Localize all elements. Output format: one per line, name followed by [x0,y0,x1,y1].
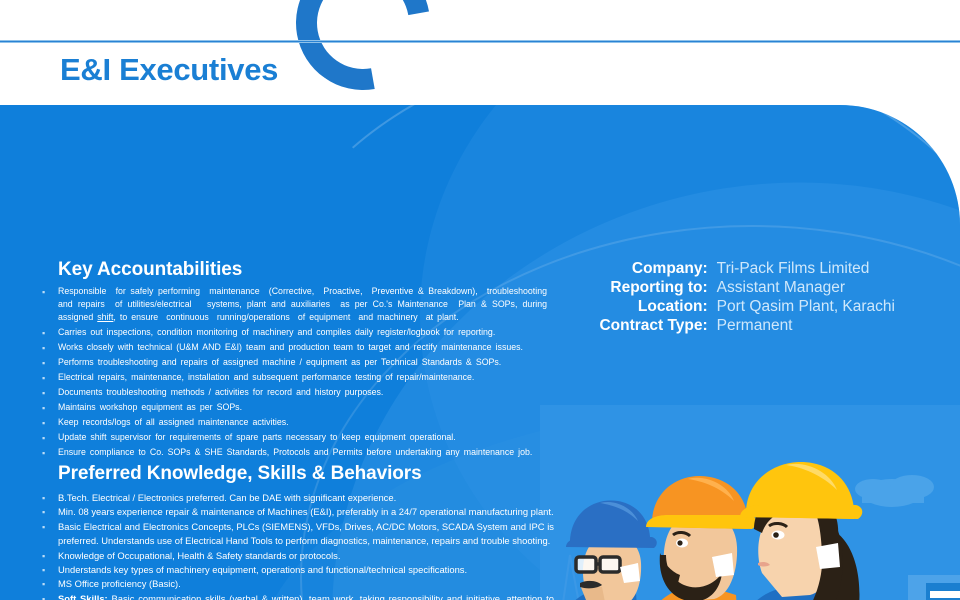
list-item: ▪ Electrical repairs, maintenance, insta… [42,371,547,385]
reporting-to-value: Assistant Manager [717,279,895,297]
list-item-text: Update shift supervisor for requirements… [58,431,547,444]
bullet-icon: ▪ [42,431,58,445]
circular-swirl-logo-icon [270,0,457,105]
list-item: ▪ MS Office proficiency (Basic). [42,577,554,591]
list-item: ▪ Min. 08 years experience repair & main… [42,505,554,519]
company-info-table: Company: Tri-Pack Films Limited Reportin… [599,260,895,335]
list-item: ▪ Update shift supervisor for requiremen… [42,431,547,445]
list-item: ▪ Carries out inspections, condition mon… [42,326,547,340]
list-item-text: Electrical repairs, maintenance, install… [58,371,547,384]
list-item: ▪ Works closely with technical (U&M AND … [42,341,547,355]
bullet-icon: ▪ [42,341,58,355]
location-label: Location: [599,298,707,316]
bullet-icon: ▪ [42,326,58,340]
list-item: ▪ Understands key types of machinery equ… [42,563,554,577]
list-item-text: MS Office proficiency (Basic). [58,577,554,591]
bullet-icon: ▪ [42,592,58,600]
list-item-text: Soft Skills: Basic communication skills … [58,592,554,600]
company-label: Company: [599,260,707,278]
list-item-text: Responsible for safely performing mainte… [58,285,547,325]
bullet-icon: ▪ [42,416,58,430]
preferred-knowledge-list: ▪ B.Tech. Electrical / Electronics prefe… [42,491,554,600]
bullet-icon: ▪ [42,401,58,415]
list-item-text: B.Tech. Electrical / Electronics preferr… [58,491,554,505]
location-value: Port Qasim Plant, Karachi [717,298,895,316]
list-item: ▪ Soft Skills: Basic communication skill… [42,592,554,600]
list-item: ▪ Documents troubleshooting methods / ac… [42,386,547,400]
list-item-text: Knowledge of Occupational, Health & Safe… [58,549,554,563]
list-item: ▪ Keep records/logs of all assigned main… [42,416,547,430]
bullet-icon: ▪ [42,285,58,299]
contract-type-label: Contract Type: [599,317,707,335]
list-item-text: Min. 08 years experience repair & mainte… [58,505,554,519]
bullet-icon: ▪ [42,371,58,385]
header-divider [0,40,960,43]
section-title-key-accountabilities: Key Accountabilities [58,259,242,281]
reporting-to-label: Reporting to: [599,279,707,297]
list-item: ▪ Knowledge of Occupational, Health & Sa… [42,549,554,563]
key-accountabilities-list: ▪ Responsible for safely performing main… [42,285,547,461]
contract-type-value: Permanent [717,317,895,335]
three-industrial-workers-illustration [540,405,960,600]
list-item: ▪ Basic Electrical and Electronics Conce… [42,520,554,549]
list-item-text: Documents troubleshooting methods / acti… [58,386,547,399]
company-value: Tri-Pack Films Limited [717,260,895,278]
list-item: ▪ Responsible for safely performing main… [42,285,547,325]
list-item: ▪ Maintains workshop equipment as per SO… [42,401,547,415]
list-item-text: Performs troubleshooting and repairs of … [58,356,547,369]
list-item: ▪ B.Tech. Electrical / Electronics prefe… [42,491,554,505]
cloud-icon [855,475,934,507]
list-item-text: Understands key types of machinery equip… [58,563,554,577]
content-panel: Key Accountabilities ▪ Responsible for s… [0,105,960,600]
list-item-text: Carries out inspections, condition monit… [58,326,547,339]
section-title-preferred-knowledge: Preferred Knowledge, Skills & Behaviors [58,463,422,485]
list-item-text: Works closely with technical (U&M AND E&… [58,341,547,354]
bullet-icon: ▪ [42,505,58,519]
bullet-icon: ▪ [42,446,58,460]
bullet-icon: ▪ [42,386,58,400]
bullet-icon: ▪ [42,491,58,505]
bullet-icon: ▪ [42,356,58,370]
list-item-text: Keep records/logs of all assigned mainte… [58,416,547,429]
page-header: E&I Executives [0,0,960,105]
list-item: ▪ Performs troubleshooting and repairs o… [42,356,547,370]
bullet-icon: ▪ [42,549,58,563]
list-item-text: Basic Electrical and Electronics Concept… [58,520,554,549]
page-title: E&I Executives [60,52,278,88]
bullet-icon: ▪ [42,520,58,534]
list-item-text: Ensure compliance to Co. SOPs & SHE Stan… [58,446,547,459]
building-silhouette [908,575,960,600]
bullet-icon: ▪ [42,563,58,577]
list-item-text: Maintains workshop equipment as per SOPs… [58,401,547,414]
list-item: ▪ Ensure compliance to Co. SOPs & SHE St… [42,446,547,460]
bullet-icon: ▪ [42,577,58,591]
